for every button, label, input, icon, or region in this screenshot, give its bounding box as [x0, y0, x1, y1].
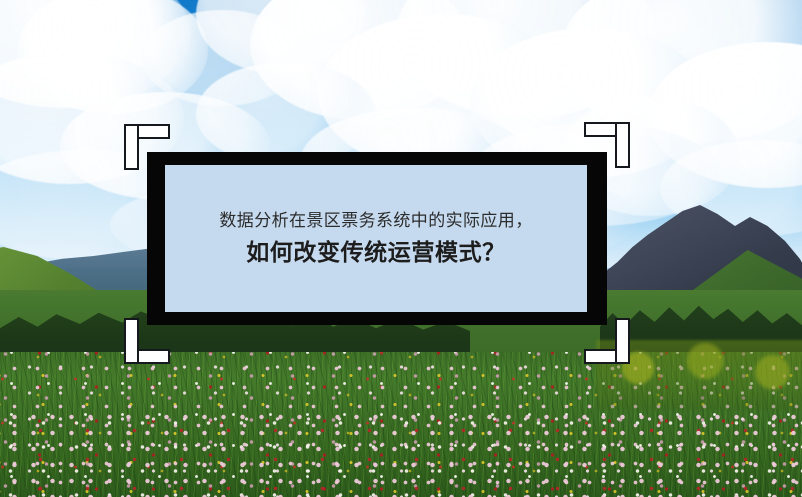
bracket-arm-vertical [124, 124, 139, 170]
headline-line-2: 如何改变传统运营模式？ [246, 236, 506, 269]
corner-bracket-bottom-left [124, 318, 170, 364]
headline-line-1: 数据分析在景区票务系统中的实际应用， [219, 208, 532, 234]
bracket-arm-vertical [615, 318, 630, 364]
corner-bracket-top-left [124, 124, 170, 170]
banner-image: 数据分析在景区票务系统中的实际应用， 如何改变传统运营模式？ [0, 0, 802, 497]
headline-card-frame: 数据分析在景区票务系统中的实际应用， 如何改变传统运营模式？ [147, 152, 607, 325]
corner-bracket-top-right [584, 122, 630, 168]
bracket-arm-vertical [124, 318, 139, 364]
corner-bracket-bottom-right [584, 318, 630, 364]
headline-panel: 数据分析在景区票务系统中的实际应用， 如何改变传统运营模式？ [165, 165, 587, 312]
bracket-arm-vertical [615, 122, 630, 168]
dense-flower-cluster [0, 405, 802, 497]
